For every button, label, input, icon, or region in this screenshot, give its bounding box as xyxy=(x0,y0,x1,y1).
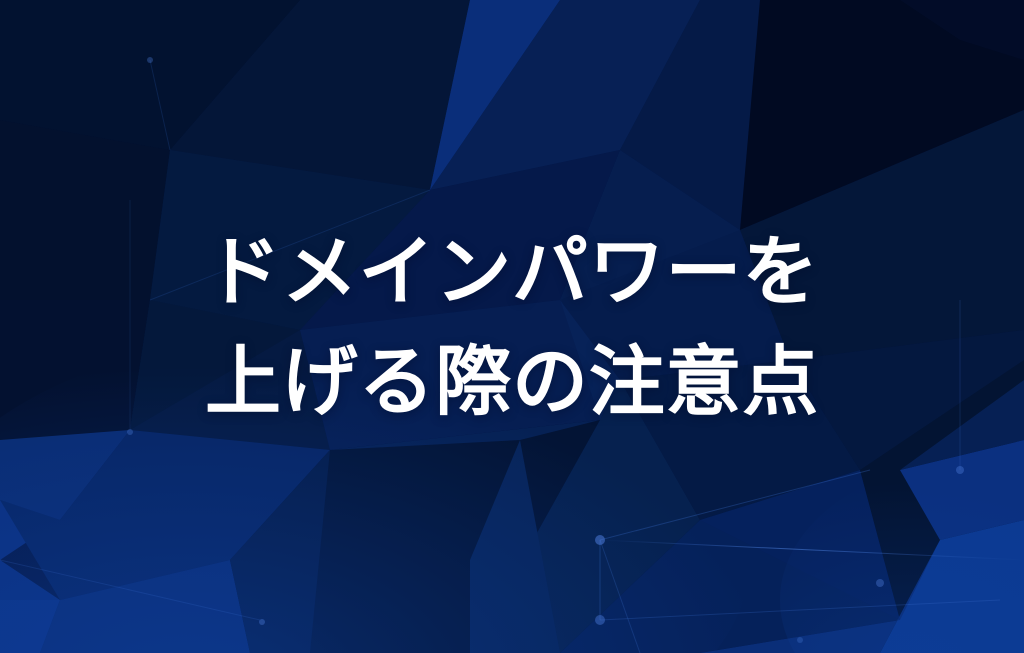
low-poly-background xyxy=(0,0,1024,653)
hero-banner: ドメインパワーを 上げる際の注意点 xyxy=(0,0,1024,653)
